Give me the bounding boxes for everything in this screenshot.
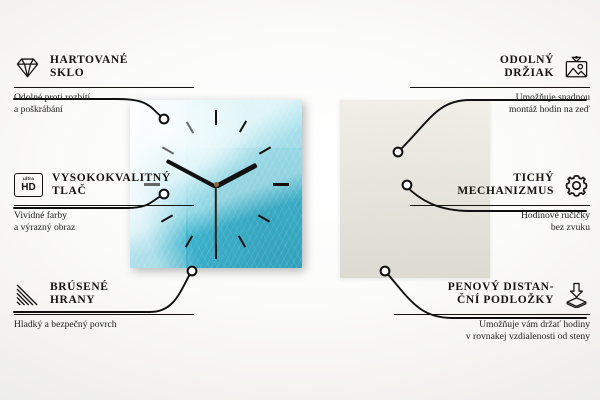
feature-header: HARTOVANÉ SKLO [14, 50, 194, 84]
feature-title: BRÚSENÉ HRANY [50, 281, 109, 308]
feature-title: TICHÝ MECHANIZMUS [457, 172, 554, 199]
tick-3 [273, 183, 289, 186]
tick-12 [215, 110, 217, 125]
feature-header: ODOLNÝ DRŽIAK [410, 50, 590, 84]
feature-header: BRÚSENÉ HRANY [14, 277, 194, 311]
feature-title: ODOLNÝ DRŽIAK [500, 54, 554, 81]
feature-header: PENOVÝ DISTAN- ČNÍ PODLOŽKY [394, 277, 590, 311]
feature-title: PENOVÝ DISTAN- ČNÍ PODLOŽKY [448, 281, 554, 308]
clock-center-pin [214, 182, 219, 187]
feature-title: HARTOVANÉ SKLO [50, 54, 128, 81]
foam-spacer-icon [563, 281, 590, 308]
divider [14, 87, 194, 88]
ultra-hd-badge-icon: ultra HD [14, 173, 43, 197]
divider [410, 205, 590, 206]
divider [410, 87, 590, 88]
feature-hq-print: ultra HD VYSOKOKVALITNÝ TLAČ Vividné far… [14, 168, 194, 233]
gear-icon [563, 172, 590, 199]
feature-title: VYSOKOKVALITNÝ TLAČ [52, 172, 171, 199]
divider [394, 314, 590, 315]
picture-hanger-icon [563, 54, 590, 81]
infographic-canvas: HARTOVANÉ SKLO Odolné proti rozbití a po… [0, 0, 600, 400]
feature-header: ultra HD VYSOKOKVALITNÝ TLAČ [14, 168, 194, 202]
feature-header: TICHÝ MECHANIZMUS [410, 168, 590, 202]
feature-tempered-glass: HARTOVANÉ SKLO Odolné proti rozbití a po… [14, 50, 194, 115]
brushed-edges-icon [14, 281, 41, 308]
feature-durable-holder: ODOLNÝ DRŽIAK Umožňuje snadnou montáž ho… [410, 50, 590, 115]
divider [14, 314, 194, 315]
feature-foam-spacers: PENOVÝ DISTAN- ČNÍ PODLOŽKY Umožňuje vám… [394, 277, 590, 342]
diamond-icon [14, 54, 41, 81]
feature-silent-mechanism: TICHÝ MECHANIZMUS Hodinové ručičky bez z… [410, 168, 590, 233]
second-hand [215, 186, 217, 248]
divider [14, 205, 194, 206]
feature-polished-edges: BRÚSENÉ HRANY Hladký a bezpečný povrch [14, 277, 194, 331]
